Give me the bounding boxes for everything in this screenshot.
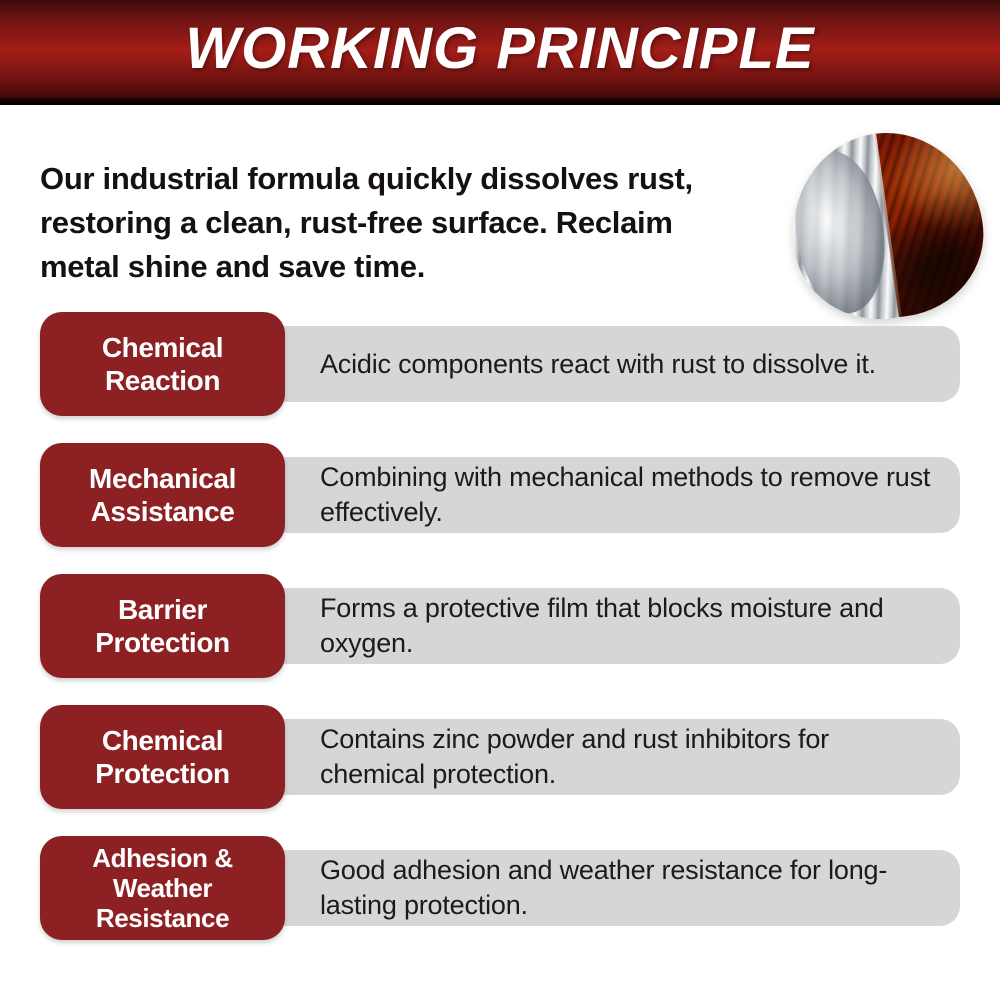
principle-label-text: Adhesion & Weather Resistance: [40, 843, 285, 933]
principle-label-text: Chemical Protection: [40, 724, 285, 790]
principle-list: Acidic components react with rust to dis…: [0, 312, 1000, 967]
header-banner: WORKING PRINCIPLE: [0, 0, 1000, 105]
principle-label-badge: Mechanical Assistance: [40, 443, 285, 547]
page-title: WORKING PRINCIPLE: [0, 18, 1000, 80]
principle-label-text: Chemical Reaction: [40, 331, 285, 397]
principle-description-text: Acidic components react with rust to dis…: [320, 347, 876, 382]
list-item: Acidic components react with rust to dis…: [0, 312, 1000, 416]
principle-description-card: Combining with mechanical methods to rem…: [220, 457, 960, 533]
list-item: Forms a protective film that blocks mois…: [0, 574, 1000, 678]
principle-description-card: Forms a protective film that blocks mois…: [220, 588, 960, 664]
list-item: Good adhesion and weather resistance for…: [0, 836, 1000, 940]
principle-description-card: Contains zinc powder and rust inhibitors…: [220, 719, 960, 795]
principle-label-badge: Adhesion & Weather Resistance: [40, 836, 285, 940]
rusty-pipe-cross-section-image: [780, 121, 994, 331]
principle-label-text: Mechanical Assistance: [40, 462, 285, 528]
principle-description-card: Acidic components react with rust to dis…: [220, 326, 960, 402]
principle-description-text: Good adhesion and weather resistance for…: [320, 853, 936, 923]
principle-label-badge: Barrier Protection: [40, 574, 285, 678]
principle-label-text: Barrier Protection: [40, 593, 285, 659]
principle-label-badge: Chemical Reaction: [40, 312, 285, 416]
list-item: Contains zinc powder and rust inhibitors…: [0, 705, 1000, 809]
principle-label-badge: Chemical Protection: [40, 705, 285, 809]
intro-paragraph: Our industrial formula quickly dissolves…: [40, 157, 760, 289]
principle-description-text: Contains zinc powder and rust inhibitors…: [320, 722, 936, 792]
intro-section: Our industrial formula quickly dissolves…: [0, 105, 1000, 310]
principle-description-text: Forms a protective film that blocks mois…: [320, 591, 936, 661]
list-item: Combining with mechanical methods to rem…: [0, 443, 1000, 547]
principle-description-text: Combining with mechanical methods to rem…: [320, 460, 936, 530]
principle-description-card: Good adhesion and weather resistance for…: [220, 850, 960, 926]
